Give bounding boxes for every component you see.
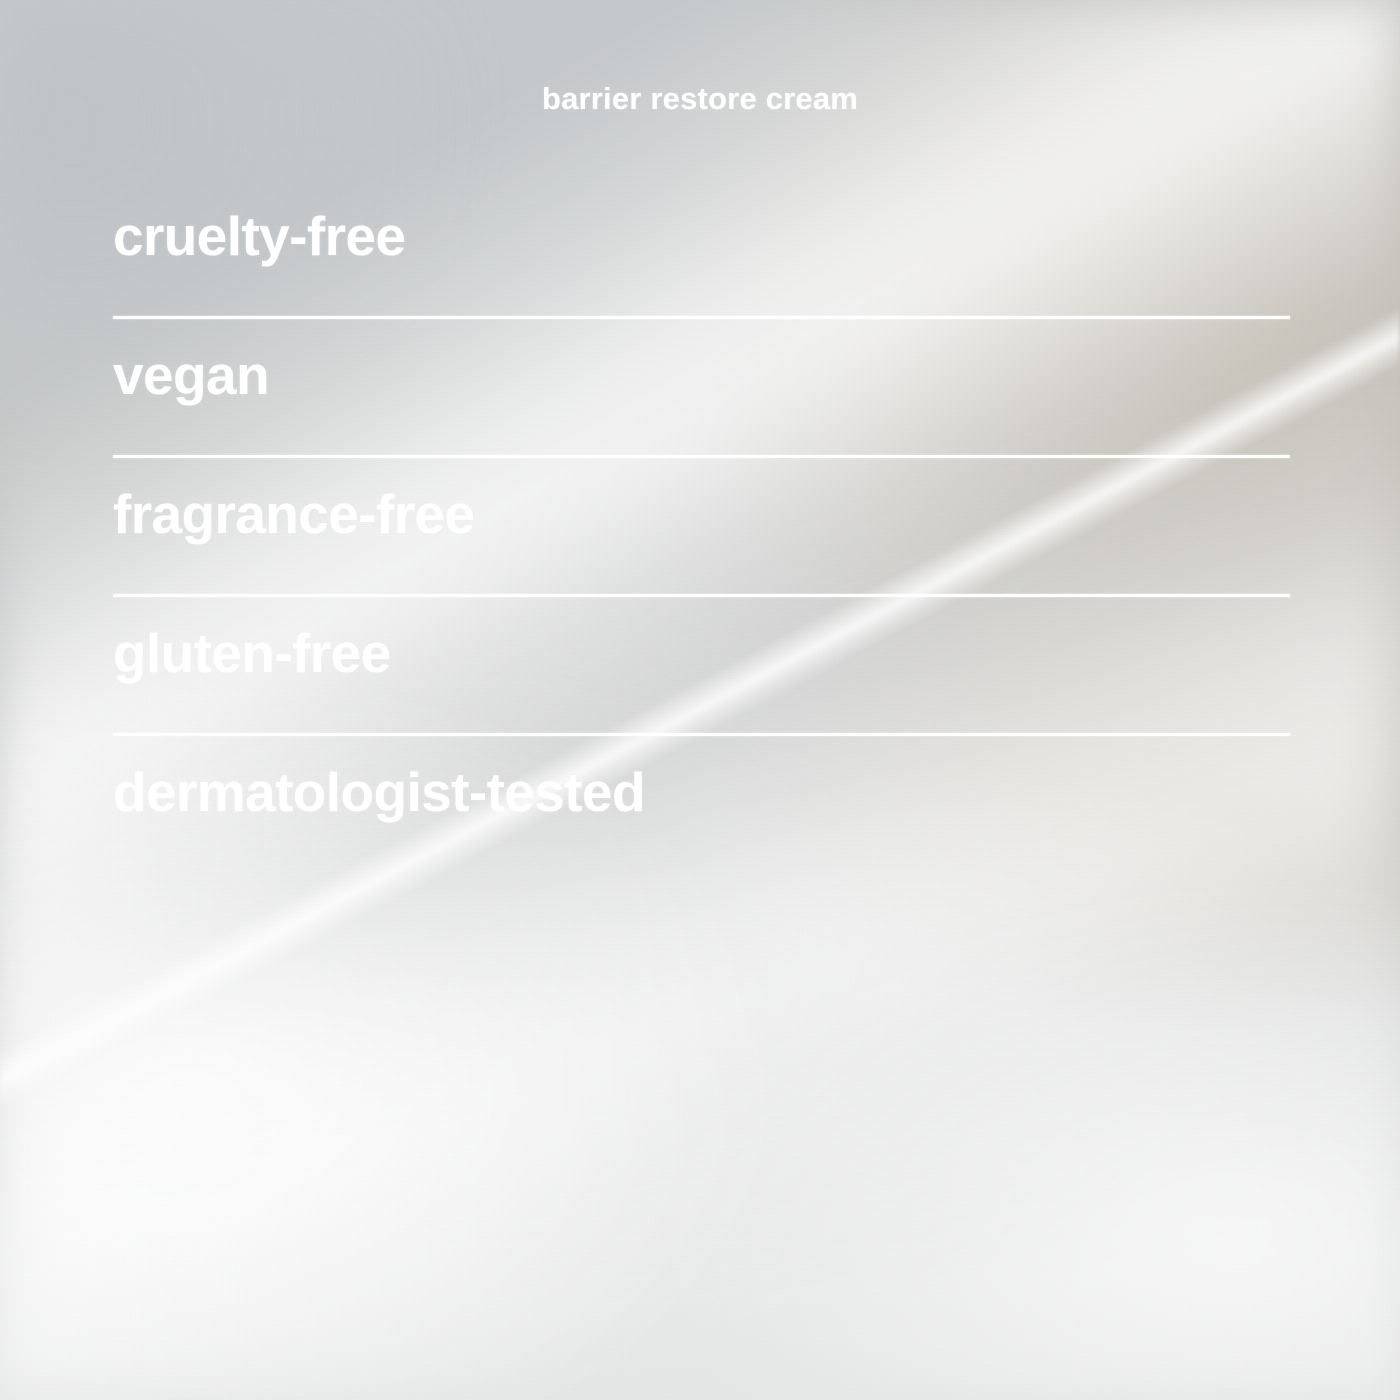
- claim-row: dermatologist-tested: [113, 736, 1290, 875]
- claim-label: fragrance-free: [113, 458, 474, 570]
- claim-label: cruelty-free: [113, 180, 405, 292]
- claims-list: cruelty-free vegan fragrance-free gluten…: [113, 180, 1290, 875]
- page-title: barrier restore cream: [0, 82, 1400, 116]
- claim-label: gluten-free: [113, 597, 391, 709]
- content-overlay: barrier restore cream cruelty-free vegan…: [0, 0, 1400, 1400]
- claim-row: vegan: [113, 319, 1290, 458]
- product-claims-graphic: barrier restore cream cruelty-free vegan…: [0, 0, 1400, 1400]
- claim-row: gluten-free: [113, 597, 1290, 736]
- claim-label: vegan: [113, 319, 269, 431]
- claim-label: dermatologist-tested: [113, 736, 645, 848]
- claim-row: fragrance-free: [113, 458, 1290, 597]
- claim-row: cruelty-free: [113, 180, 1290, 319]
